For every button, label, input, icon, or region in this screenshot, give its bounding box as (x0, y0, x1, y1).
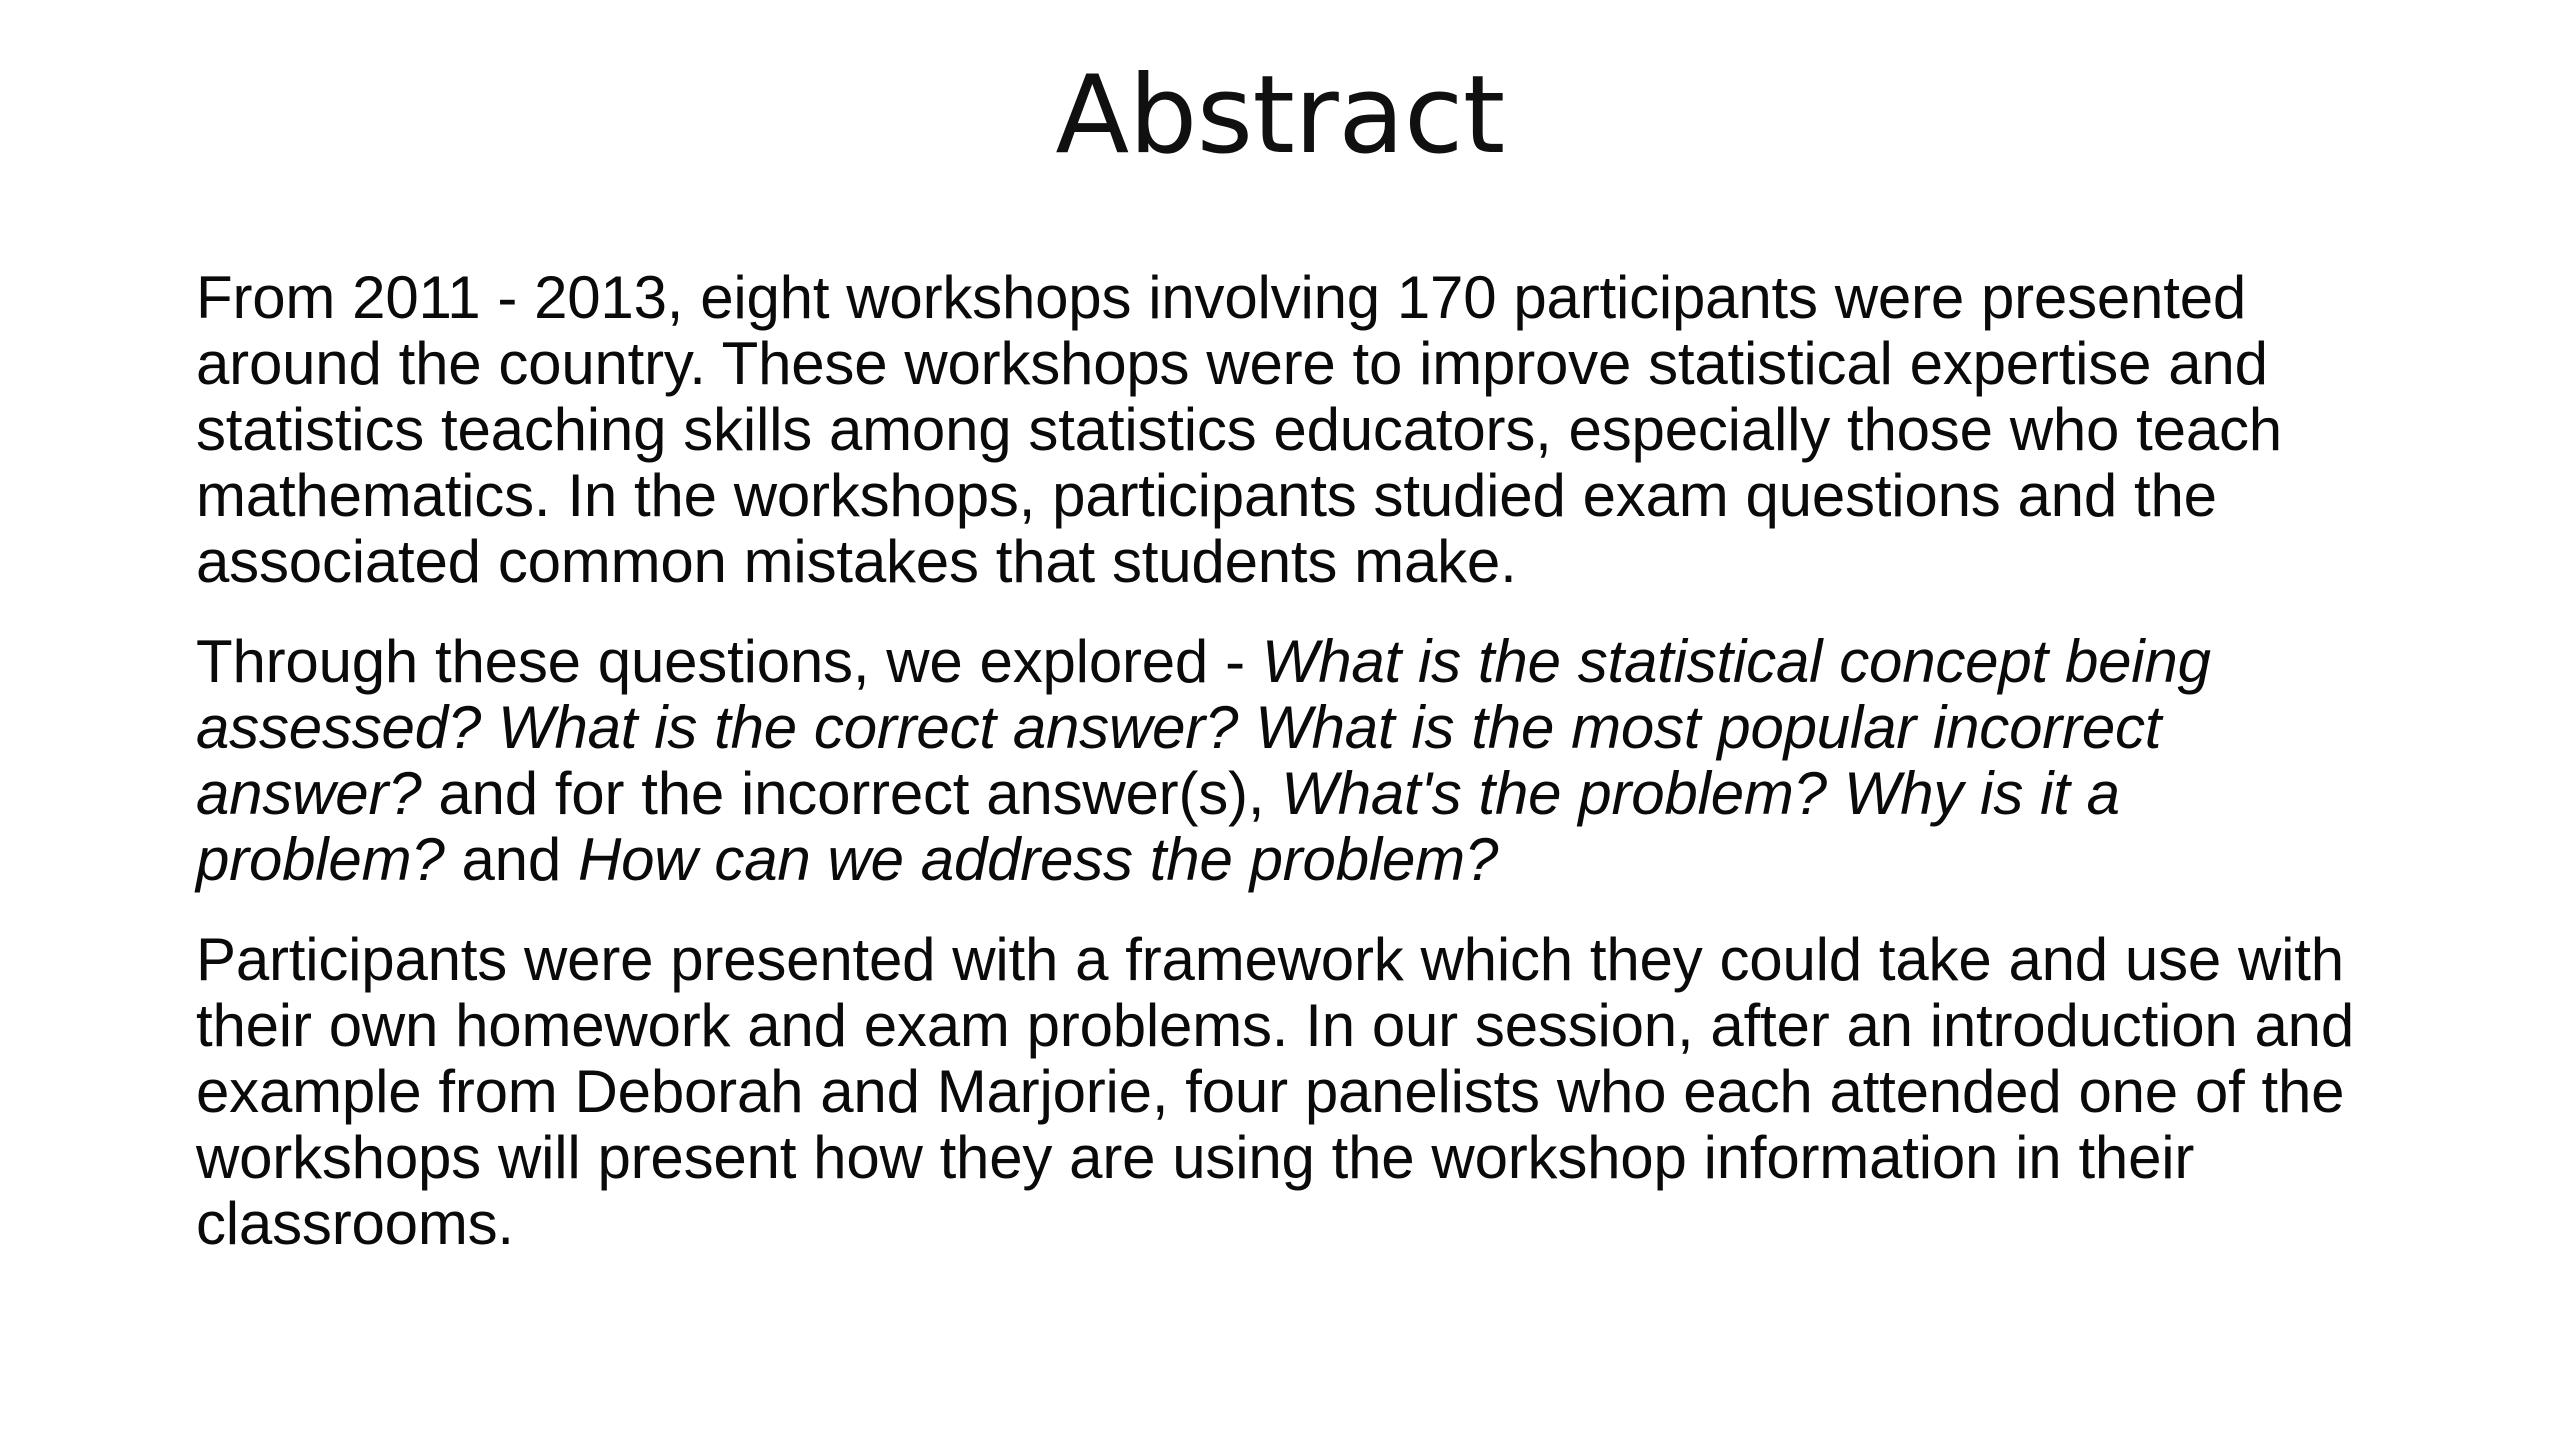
page-title: Abstract (0, 52, 2560, 179)
text-run-regular: and (445, 826, 578, 893)
text-run-regular: From 2011 - 2013, eight workshops involv… (196, 264, 2282, 595)
text-run-regular: Participants were presented with a frame… (196, 926, 2354, 1257)
body-paragraph-3: Participants were presented with a frame… (196, 927, 2381, 1257)
text-run-italic: How can we address the problem? (578, 826, 1498, 893)
slide-body: From 2011 - 2013, eight workshops involv… (196, 265, 2381, 1257)
text-run-regular: Through these questions, we explored - (196, 628, 1262, 695)
text-run-regular: and for the incorrect answer(s), (421, 760, 1281, 827)
body-paragraph-2: Through these questions, we explored - W… (196, 629, 2381, 893)
slide-canvas: Abstract From 2011 - 2013, eight worksho… (0, 0, 2560, 1440)
body-paragraph-1: From 2011 - 2013, eight workshops involv… (196, 265, 2381, 595)
